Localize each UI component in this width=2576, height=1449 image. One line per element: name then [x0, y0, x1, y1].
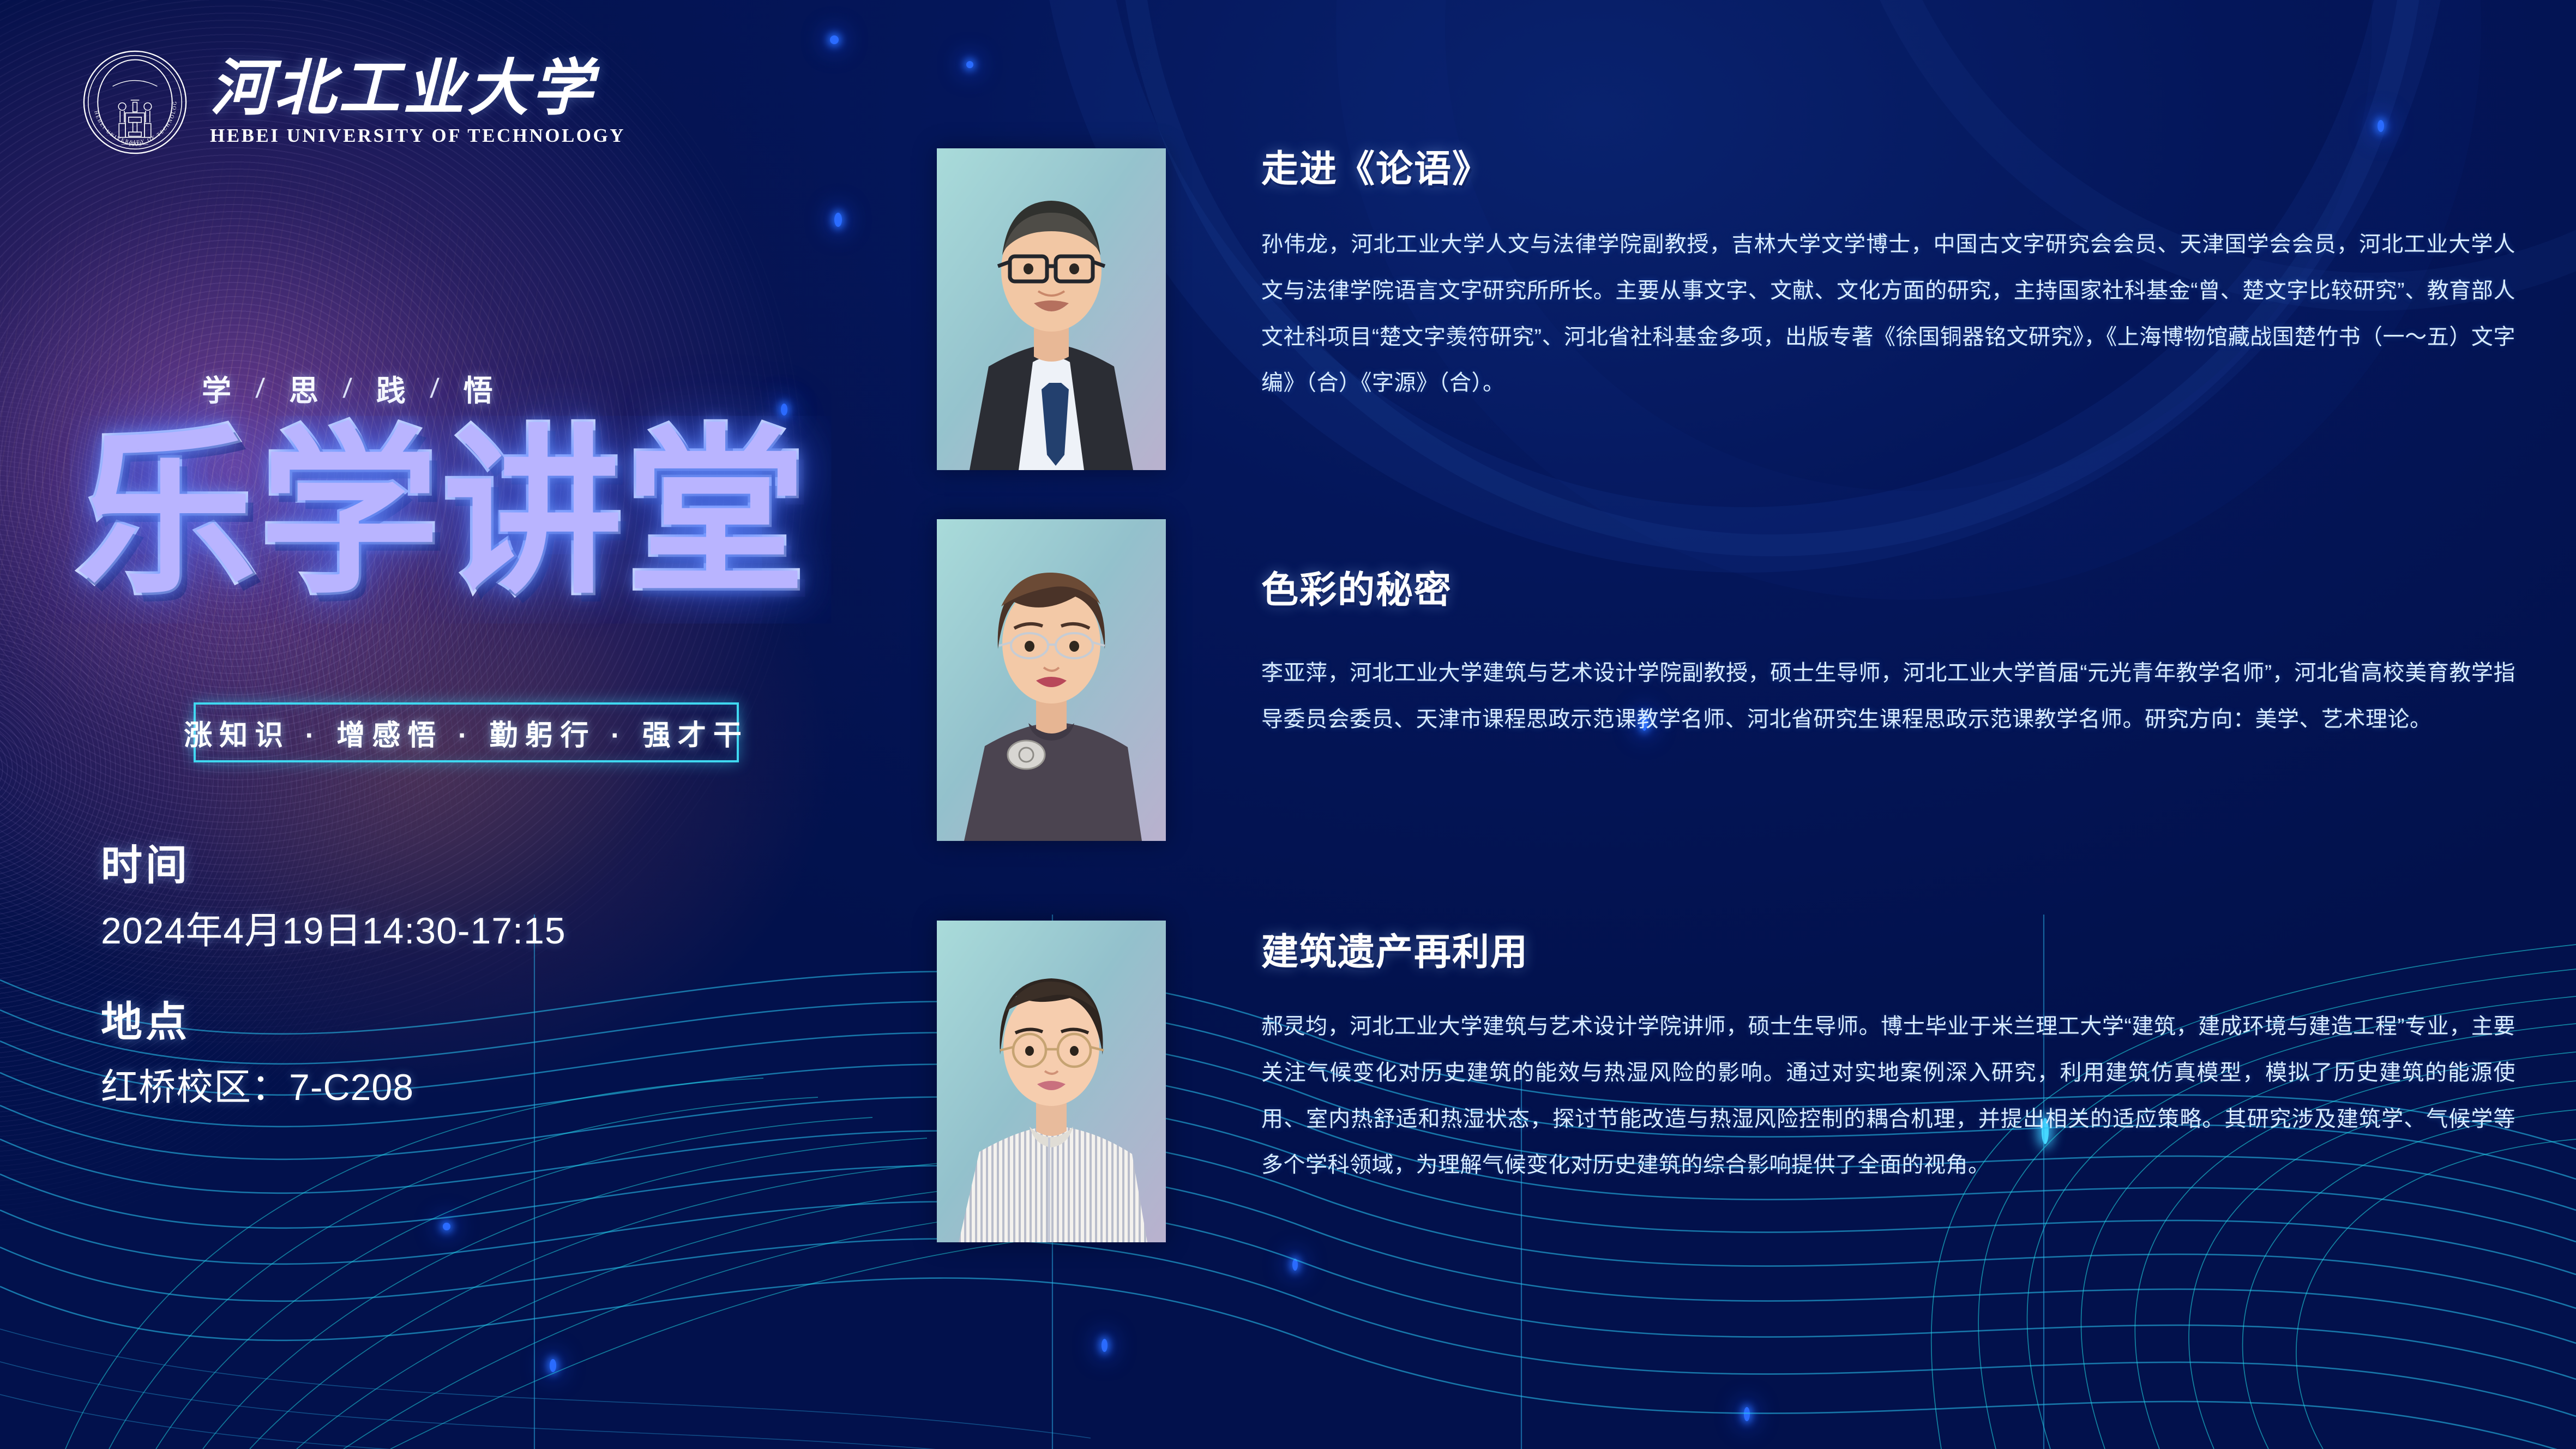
time-value: 2024年4月19日14:30-17:15: [101, 900, 566, 954]
speaker-body: 建筑遗产再利用 郝灵均，河北工业大学建筑与艺术设计学院讲师，硕士生导师。博士毕业…: [1261, 921, 2515, 1242]
glow-dot: [550, 1359, 556, 1372]
tagline-item-3: 践: [376, 366, 411, 410]
motto-text: 涨知识 · 增感悟 · 勤躬行 · 强才干: [184, 712, 749, 753]
speaker-bio: 李亚萍，河北工业大学建筑与艺术设计学院副教授，硕士生导师，河北工业大学首届“元光…: [1261, 650, 2515, 743]
tagline-separator: /: [429, 372, 446, 404]
event-info-block: 时间 2024年4月19日14:30-17:15 地点 红桥校区：7-C208: [101, 832, 566, 1111]
poster-canvas: —1903— HEBEI UNIVERSITY OF TECHNOLOGY 河北…: [0, 0, 2576, 1449]
speaker-row: 建筑遗产再利用 郝灵均，河北工业大学建筑与艺术设计学院讲师，硕士生导师。博士毕业…: [937, 921, 2515, 1242]
tagline-separator: /: [255, 372, 271, 404]
speaker-body: 色彩的秘密 李亚萍，河北工业大学建筑与艺术设计学院副教授，硕士生导师，河北工业大…: [1261, 519, 2515, 841]
university-crest-icon: —1903— HEBEI UNIVERSITY OF TECHNOLOGY: [82, 49, 188, 155]
university-logo-block: —1903— HEBEI UNIVERSITY OF TECHNOLOGY 河北…: [82, 49, 625, 155]
speaker-row: 色彩的秘密 李亚萍，河北工业大学建筑与艺术设计学院副教授，硕士生导师，河北工业大…: [937, 519, 2515, 841]
speaker-body: 走进《论语》 孙伟龙，河北工业大学人文与法律学院副教授，吉林大学文学博士，中国古…: [1261, 148, 2515, 470]
tagline-item-1: 学: [202, 366, 237, 410]
speaker-photo: [937, 921, 1166, 1242]
speaker-bio: 郝灵均，河北工业大学建筑与艺术设计学院讲师，硕士生导师。博士毕业于米兰理工大学“…: [1261, 1003, 2515, 1188]
tagline-item-2: 思: [289, 366, 324, 410]
speaker-talk-title: 色彩的秘密: [1261, 572, 2515, 609]
speaker-talk-title: 建筑遗产再利用: [1261, 934, 2515, 971]
time-label: 时间: [101, 832, 566, 892]
brand-name-cn: 河北工业大学: [210, 58, 625, 119]
place-value: 红桥校区：7-C208: [101, 1057, 566, 1111]
place-label: 地点: [101, 988, 566, 1048]
tagline-item-4: 悟: [464, 366, 498, 410]
tagline-row: 学 / 思 / 践 / 悟: [202, 366, 498, 410]
speaker-row: 走进《论语》 孙伟龙，河北工业大学人文与法律学院副教授，吉林大学文学博士，中国古…: [937, 148, 2515, 470]
speaker-photo: [937, 148, 1166, 470]
svg-text:HEBEI UNIVERSITY OF TECHNOLOGY: HEBEI UNIVERSITY OF TECHNOLOGY: [82, 49, 178, 146]
tagline-separator: /: [342, 372, 358, 404]
speaker-photo: [937, 519, 1166, 841]
speakers-list: 走进《论语》 孙伟龙，河北工业大学人文与法律学院副教授，吉林大学文学博士，中国古…: [937, 0, 2518, 1449]
speaker-bio: 孙伟龙，河北工业大学人文与法律学院副教授，吉林大学文学博士，中国古文字研究会会员…: [1261, 221, 2515, 406]
poster-main-title: 乐学讲堂: [76, 420, 809, 607]
glow-dot: [830, 35, 839, 44]
motto-badge: 涨知识 · 增感悟 · 勤躬行 · 强才干: [194, 702, 739, 762]
brand-name-en: HEBEI UNIVERSITY OF TECHNOLOGY: [210, 125, 625, 147]
glow-dot: [443, 1223, 450, 1230]
glow-dot: [834, 213, 842, 227]
speaker-talk-title: 走进《论语》: [1261, 151, 2515, 188]
